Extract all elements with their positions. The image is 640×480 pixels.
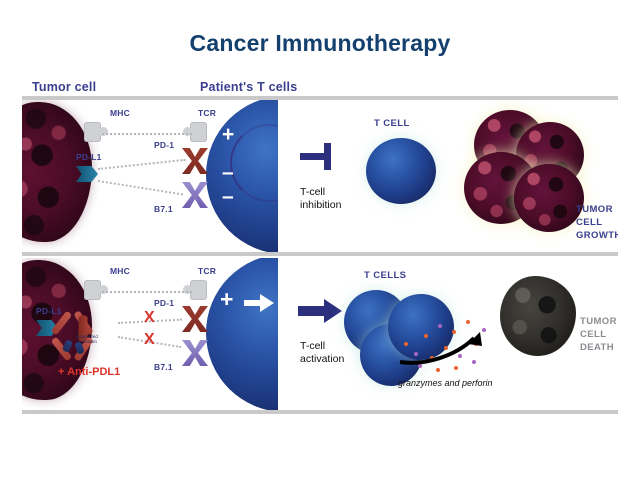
pd1-receptor-icon [182, 306, 208, 332]
outcome-growth-line-1: TUMOR [576, 204, 618, 217]
b71-receptor-icon [182, 182, 208, 208]
molecule-label-tcr: TCR [198, 108, 216, 118]
blocked-mark-pd1: X [144, 310, 155, 326]
granzymes-perforin-label: granzymes and perforin [398, 378, 493, 388]
fc-domain-line-2: Fc domain [70, 339, 104, 344]
column-header-tumor-cell: Tumor cell [32, 80, 96, 94]
outcome-death-line-3: DEATH [580, 342, 617, 355]
mechanism-line-2: inhibition [300, 199, 341, 212]
granule [436, 368, 440, 372]
t-cell-sign-minus-1: – [222, 162, 234, 183]
molecule-label-pd1: PD-1 [154, 298, 174, 308]
outcome-growth-line-3: GROWTH [576, 230, 618, 243]
mhc-tcr-connector [102, 133, 192, 135]
mechanism-line-1: T-cell [300, 186, 341, 199]
molecule-label-pdl1: PD-L1 [76, 152, 102, 162]
mhc-receptor-icon [84, 280, 101, 300]
pdl1-pd1-connector [98, 159, 186, 170]
outcome-label-t-cell: T CELL [374, 118, 410, 131]
t-cell-body [206, 258, 278, 410]
b71-receptor-icon [182, 340, 208, 366]
mhc-receptor-icon [84, 122, 101, 142]
molecule-label-b71: B7.1 [154, 204, 173, 214]
fc-domain-label: Engineered Fc domain [70, 334, 104, 345]
mechanism-label-inhibition: T-cell inhibition [300, 186, 341, 212]
panel-inhibition: + – – MHC TCR PD-L1 PD-1 B7.1 T-cell inh… [22, 100, 618, 252]
molecule-label-pd1: PD-1 [154, 140, 174, 150]
inhibition-bar-icon [300, 142, 338, 172]
mechanism-label-activation: T-cell activation [300, 340, 344, 366]
molecule-label-tcr: TCR [198, 266, 216, 276]
page-title: Cancer Immunotherapy [0, 30, 640, 57]
molecule-label-mhc: MHC [110, 108, 130, 118]
panel-activation-interaction: + MHC TCR PD-L1 Engineered Fc domain [22, 258, 278, 410]
t-cell-single-icon [366, 138, 436, 204]
mhc-tcr-connector [102, 291, 192, 293]
pd1-receptor-icon [182, 148, 208, 174]
outcome-label-tumor-death: TUMOR CELL DEATH [580, 316, 617, 354]
outcome-growth-line-2: CELL [576, 217, 618, 230]
granule [466, 320, 470, 324]
divider-middle [22, 252, 618, 256]
tumor-mass-4 [514, 164, 584, 232]
molecule-label-mhc: MHC [110, 266, 130, 276]
tcr-receptor-icon [190, 280, 207, 300]
mechanism-line-2: activation [300, 353, 344, 366]
tcr-receptor-icon [190, 122, 207, 142]
outcome-death-line-1: TUMOR [580, 316, 617, 329]
pdl1-b71-connector [98, 180, 183, 195]
outcome-death-line-2: CELL [580, 329, 617, 342]
outcome-label-t-cells: T CELLS [364, 270, 406, 283]
cytotoxic-attack-arrow-icon [398, 328, 488, 368]
dead-tumor-cell-icon [500, 276, 576, 356]
t-cell-sign-plus: + [220, 288, 233, 311]
column-header-patient-t-cells: Patient's T cells [200, 80, 297, 94]
molecule-label-b71: B7.1 [154, 362, 173, 372]
panel-activation: + MHC TCR PD-L1 Engineered Fc domain [22, 258, 618, 410]
activation-arrow-icon [298, 298, 342, 324]
anti-pdl1-drug-label: + Anti-PDL1 [58, 366, 120, 378]
panel-inhibition-interaction: + – – MHC TCR PD-L1 PD-1 B7.1 [22, 100, 278, 252]
blocked-mark-b71: X [144, 332, 155, 348]
t-cell-sign-minus-2: – [222, 186, 234, 207]
t-cell-sign-plus: + [222, 124, 234, 145]
panel-activation-outcome: T-cell activation T CELLS granzymes and … [278, 258, 618, 410]
panel-inhibition-outcome: T-cell inhibition T CELL TUMOR CELL GROW… [278, 100, 618, 252]
activation-white-arrow-icon [244, 294, 274, 312]
outcome-label-tumor-growth: TUMOR CELL GROWTH [576, 204, 618, 242]
divider-bottom [22, 410, 618, 414]
mechanism-line-1: T-cell [300, 340, 344, 353]
